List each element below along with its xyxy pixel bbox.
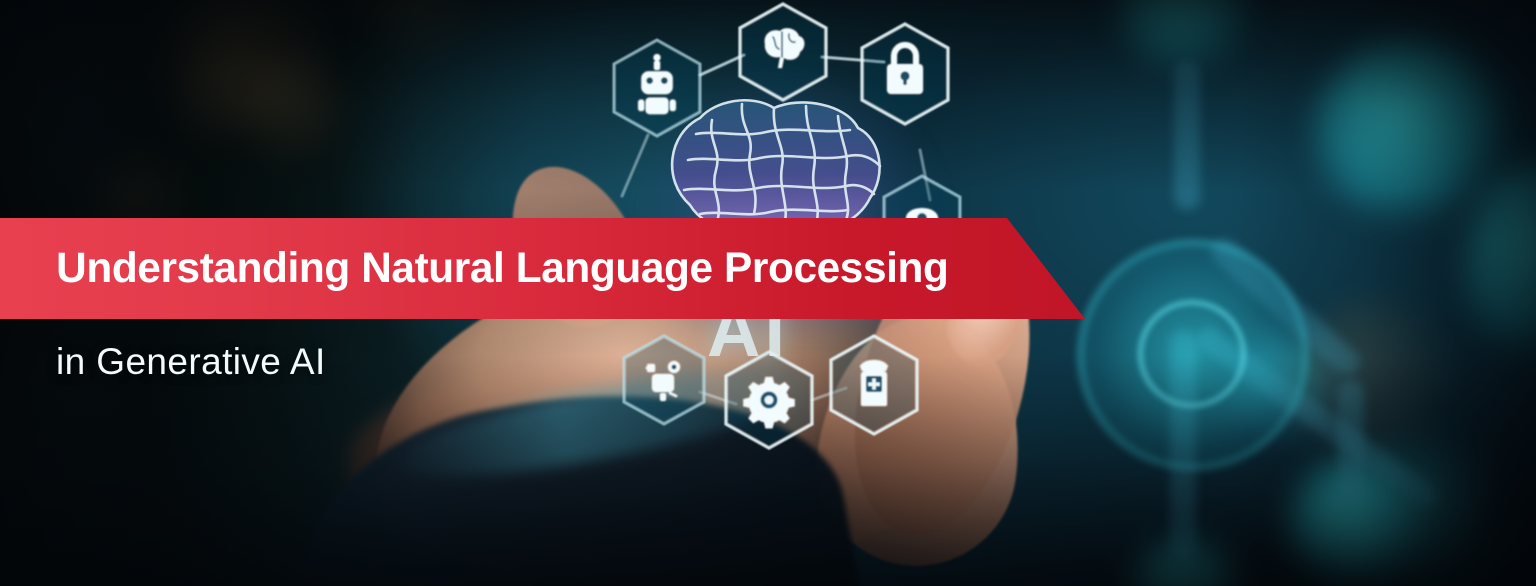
article-hero-banner: AI Understanding Natural Language Proces… [0, 0, 1536, 586]
gear-cog-icon [743, 377, 794, 428]
hexagon-padlock [862, 24, 948, 124]
central-brain-illustration [672, 100, 880, 235]
hexagon-brain [740, 4, 826, 100]
hexagon-robot-head [614, 40, 700, 136]
hexagon-medicine-bottle [831, 336, 917, 434]
page-title: Understanding Natural Language Processin… [0, 247, 948, 290]
connector-line [622, 135, 648, 196]
connector-line [700, 55, 744, 75]
medicine-bottle-icon [860, 360, 888, 406]
title-ribbon: Understanding Natural Language Processin… [0, 218, 1090, 319]
hexagon-microchip-robot [624, 336, 704, 424]
page-subtitle: in Generative AI [56, 341, 326, 384]
